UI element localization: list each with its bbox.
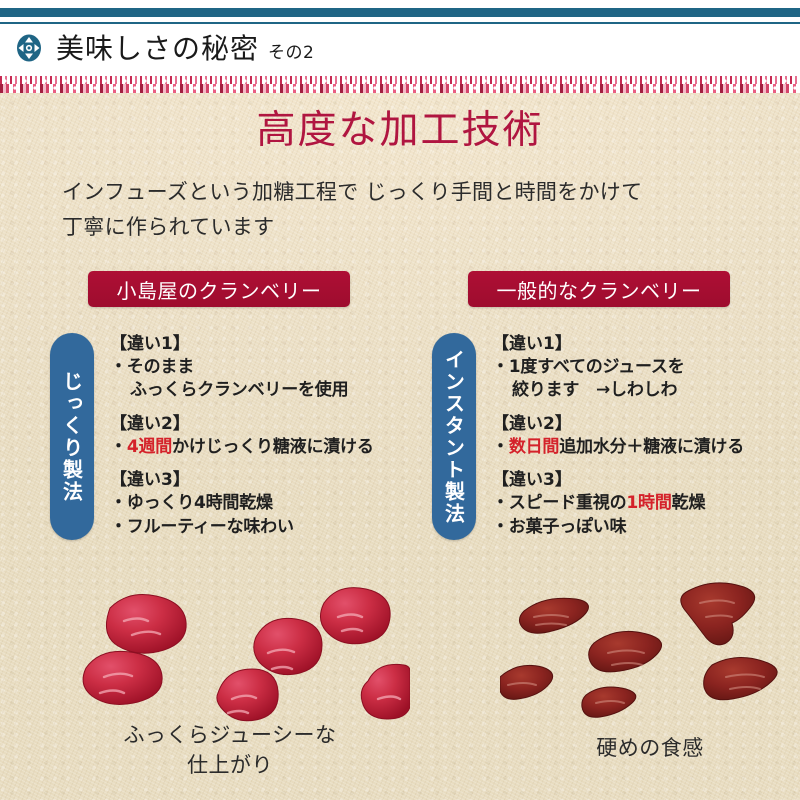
caption-line-1: 硬めの食感 xyxy=(490,733,800,763)
column-kojimaya: じっくり製法 【違い1】 ・そのまま ふっくらクランベリーを使用 【違い2】 ・… xyxy=(50,333,410,548)
diff-line: ・お菓子っぽい味 xyxy=(492,516,792,539)
header-rule-thin xyxy=(0,22,800,24)
diff-line-highlight: 1時間 xyxy=(626,493,671,513)
page-title: 美味しさの秘密 xyxy=(56,35,259,63)
diff-line-prefix: ・スピード重視の xyxy=(492,493,626,513)
column-banners: 小島屋のクランベリー 一般的なクランベリー xyxy=(0,271,800,311)
diff-line-suffix: 乾燥 xyxy=(672,493,706,513)
banner-kojimaya-cranberry: 小島屋のクランベリー xyxy=(88,271,350,307)
page-title-suffix: その2 xyxy=(268,38,314,63)
header-rule-thick xyxy=(0,8,800,17)
diff-line: ふっくらクランベリーを使用 xyxy=(110,379,410,402)
column-general: インスタント製法 【違い1】 ・1度すべてのジュースを 絞ります →しわしわ 【… xyxy=(432,333,792,548)
diff-line: ・数日間追加水分＋糖液に漬ける xyxy=(492,436,792,459)
column-kojimaya-body: 【違い1】 ・そのまま ふっくらクランベリーを使用 【違い2】 ・4週間かけじっ… xyxy=(110,333,410,549)
diff-block: 【違い3】 ・スピード重視の1時間乾燥 ・お菓子っぽい味 xyxy=(492,469,792,539)
diff-line: 絞ります →しわしわ xyxy=(492,379,792,402)
header-title-row: 美味しさの秘密 その2 xyxy=(14,28,314,63)
diff-line: ・1度すべてのジュースを xyxy=(492,356,792,379)
lead-paragraph: インフューズという加糖工程で じっくり手間と時間をかけて 丁寧に作られています xyxy=(62,175,800,244)
caption-line-2: 仕上がり xyxy=(60,750,400,780)
diff-block: 【違い2】 ・数日間追加水分＋糖液に漬ける xyxy=(492,413,792,459)
lead-line-1: インフューズという加糖工程で じっくり手間と時間をかけて xyxy=(62,175,800,210)
caption-general: 硬めの食感 xyxy=(490,733,800,763)
diff-line: ・そのまま xyxy=(110,356,410,379)
diff-heading: 【違い2】 xyxy=(492,413,792,436)
diff-line: ・フルーティーな味わい xyxy=(110,516,410,539)
diff-line-suffix: かけじっくり糖液に漬ける xyxy=(172,437,374,457)
comparison-columns: じっくり製法 【違い1】 ・そのまま ふっくらクランベリーを使用 【違い2】 ・… xyxy=(0,333,800,563)
diff-line-prefix: ・ xyxy=(492,437,509,457)
vertical-tab-jikkuri: じっくり製法 xyxy=(50,333,94,540)
infographic-page: 美味しさの秘密 その2 高度な加工技術 インフューズという加糖工程で じっくり手… xyxy=(0,0,800,800)
lead-line-2: 丁寧に作られています xyxy=(62,210,800,245)
caption-line-1: ふっくらジューシーな xyxy=(60,720,400,750)
diff-block: 【違い3】 ・ゆっくり4時間乾燥 ・フルーティーな味わい xyxy=(110,469,410,539)
decorative-pattern-dots xyxy=(0,76,800,93)
diff-heading: 【違い3】 xyxy=(492,469,792,492)
column-general-body: 【違い1】 ・1度すべてのジュースを 絞ります →しわしわ 【違い2】 ・数日間… xyxy=(492,333,792,549)
page-header: 美味しさの秘密 その2 xyxy=(0,0,800,76)
diff-line-highlight: 4週間 xyxy=(127,437,172,457)
diff-line-highlight: 数日間 xyxy=(509,437,559,457)
diff-line-prefix: ・ xyxy=(110,437,127,457)
banner-general-cranberry: 一般的なクランベリー xyxy=(468,271,730,307)
diff-heading: 【違い1】 xyxy=(492,333,792,356)
diff-line: ・ゆっくり4時間乾燥 xyxy=(110,492,410,515)
diff-block: 【違い2】 ・4週間かけじっくり糖液に漬ける xyxy=(110,413,410,459)
shriveled-cranberries-group xyxy=(500,573,800,723)
caption-kojimaya: ふっくらジューシーな 仕上がり xyxy=(60,720,400,781)
diff-line: ・4週間かけじっくり糖液に漬ける xyxy=(110,436,410,459)
diff-block: 【違い1】 ・そのまま ふっくらクランベリーを使用 xyxy=(110,333,410,403)
diff-heading: 【違い1】 xyxy=(110,333,410,356)
plump-cranberries-group xyxy=(70,573,410,723)
diff-line: ・スピード重視の1時間乾燥 xyxy=(492,492,792,515)
section-heading: 高度な加工技術 xyxy=(0,110,800,153)
diff-line-suffix: 追加水分＋糖液に漬ける xyxy=(559,437,744,457)
snowflake-emblem-icon xyxy=(14,33,44,63)
content-area: 高度な加工技術 インフューズという加糖工程で じっくり手間と時間をかけて 丁寧に… xyxy=(0,93,800,800)
diff-block: 【違い1】 ・1度すべてのジュースを 絞ります →しわしわ xyxy=(492,333,792,403)
diff-heading: 【違い3】 xyxy=(110,469,410,492)
vertical-tab-instant: インスタント製法 xyxy=(432,333,476,540)
diff-heading: 【違い2】 xyxy=(110,413,410,436)
